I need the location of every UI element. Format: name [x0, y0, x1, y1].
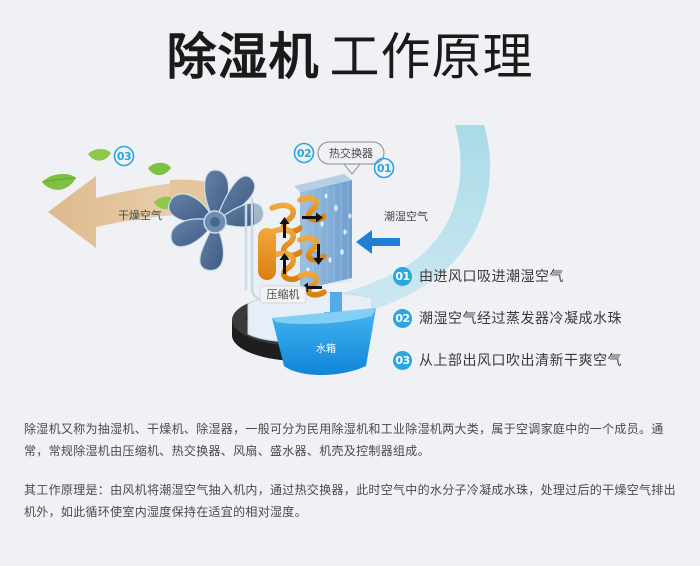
- dry-air-marker-number: 03: [117, 150, 131, 163]
- compressor-label: 压缩机: [267, 287, 300, 301]
- humid-air-marker-number: 01: [377, 162, 391, 175]
- compressor-callout: 压缩机: [260, 286, 306, 303]
- step-label: 潮湿空气经过蒸发器冷凝成水珠: [419, 308, 622, 328]
- leaf-icon: [88, 149, 111, 161]
- water-tank-label: 水箱: [316, 342, 336, 355]
- step-label: 从上部出风口吹出清新干爽空气: [419, 350, 622, 370]
- description-paragraph: 除湿机又称为抽湿机、干燥机、除湿器，一般可分为民用除湿机和工业除湿机两大类，属于…: [24, 418, 679, 462]
- step-item: 03 从上部出风口吹出清新干爽空气: [393, 339, 693, 381]
- heat-exchanger-marker: 02: [295, 144, 314, 163]
- page-title: 除湿机工作原理: [0, 32, 700, 82]
- compressor-cylinder: [258, 228, 276, 280]
- page-title-bold: 除湿机: [167, 28, 320, 86]
- humid-air-label: 潮湿空气: [384, 209, 428, 223]
- water-tank: 水箱: [272, 308, 376, 375]
- dry-air-label: 干燥空气: [118, 208, 162, 222]
- step-badge: 03: [393, 351, 412, 370]
- page-title-light: 工作原理: [330, 28, 534, 86]
- description-block: 除湿机又称为抽湿机、干燥机、除湿器，一般可分为民用除湿机和工业除湿机两大类，属于…: [24, 418, 679, 523]
- intake-arrow: [356, 230, 400, 254]
- humid-air-marker: 01: [375, 159, 394, 178]
- step-list: 01 由进风口吸进潮湿空气 02 潮湿空气经过蒸发器冷凝成水珠 03 从上部出风…: [393, 255, 693, 381]
- dry-air-marker: 03: [115, 147, 134, 166]
- step-label: 由进风口吸进潮湿空气: [419, 266, 564, 286]
- step-item: 01 由进风口吸进潮湿空气: [393, 255, 693, 297]
- step-badge: 02: [393, 309, 412, 328]
- heat-exchanger-label: 热交换器: [329, 146, 373, 160]
- heat-exchanger-marker-number: 02: [297, 147, 311, 160]
- leaf-icon: [42, 174, 76, 190]
- step-badge: 01: [393, 267, 412, 286]
- step-item: 02 潮湿空气经过蒸发器冷凝成水珠: [393, 297, 693, 339]
- leaf-icon: [148, 163, 171, 175]
- description-paragraph: 其工作原理是：由风机将潮湿空气抽入机内，通过热交换器，此时空气中的水分子冷凝成水…: [24, 479, 679, 523]
